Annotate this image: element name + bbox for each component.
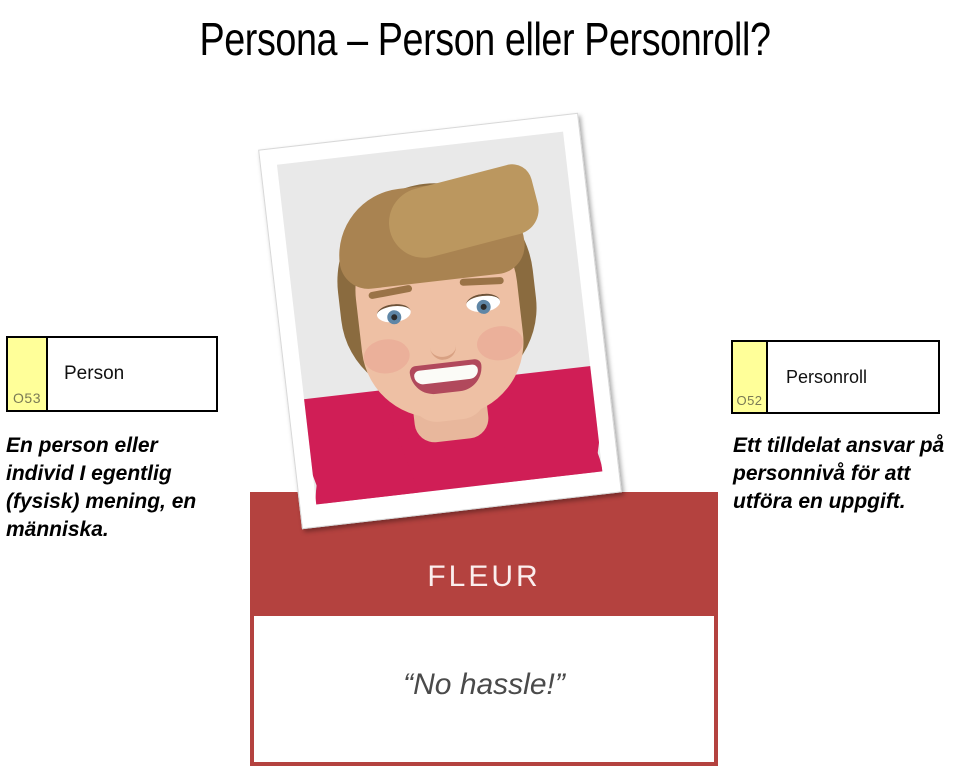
page-title: Persona – Person eller Personroll?	[87, 12, 882, 66]
concept-name-personroll: Personroll	[768, 342, 938, 412]
definition-person: En person eller individ I egentlig (fysi…	[6, 432, 221, 544]
portrait-collar-right	[500, 364, 603, 483]
persona-card-body: “No hassle!”	[250, 616, 718, 766]
definition-personroll: Ett tilldelat ansvar på personnivå för a…	[733, 432, 958, 516]
concept-name-person: Person	[48, 338, 216, 410]
persona-photo-frame	[258, 113, 622, 529]
persona-card: FLEUR “No hassle!”	[250, 492, 718, 766]
persona-quote: “No hassle!”	[403, 668, 565, 710]
concept-code-personroll: O52	[733, 342, 768, 412]
portrait-teeth	[414, 364, 479, 385]
concept-box-person: O53 Person	[6, 336, 218, 412]
concept-box-personroll: O52 Personroll	[731, 340, 940, 414]
persona-photo	[277, 132, 602, 505]
persona-name: FLEUR	[427, 514, 540, 594]
concept-code-person: O53	[8, 338, 48, 410]
